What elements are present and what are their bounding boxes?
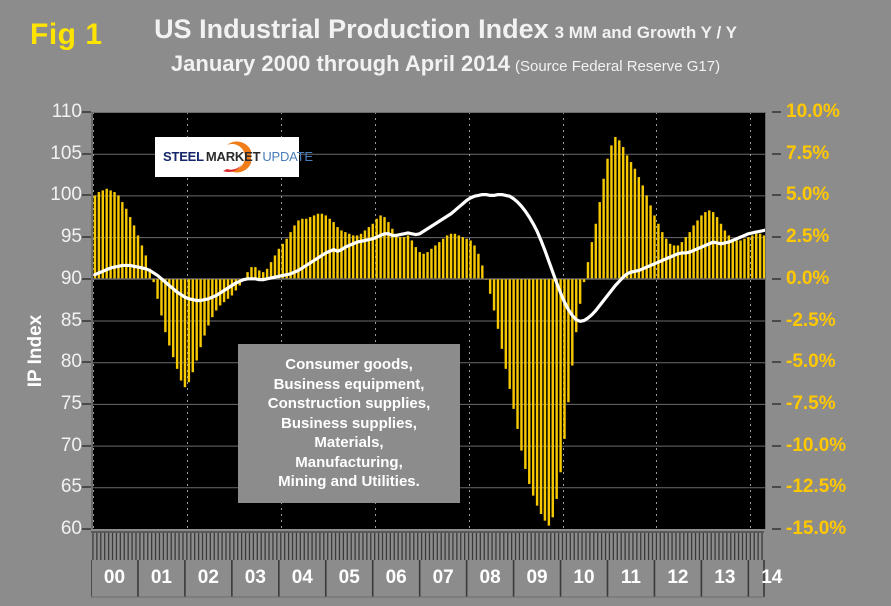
bar <box>536 279 538 506</box>
y-left-tick-mark <box>82 236 91 238</box>
bar <box>540 279 542 514</box>
bar <box>735 240 737 278</box>
logo-word-steel: STEEL <box>163 149 204 164</box>
annotation-line: Construction supplies, <box>268 394 431 414</box>
bar <box>141 245 143 278</box>
chart-title-block: US Industrial Production Index3 MM and G… <box>0 14 891 77</box>
bar <box>317 214 319 279</box>
bar <box>462 237 464 279</box>
bar <box>430 249 432 279</box>
bar <box>571 279 573 366</box>
annotation-box: Consumer goods,Business equipment,Constr… <box>238 344 460 503</box>
bar <box>121 202 123 279</box>
y-right-tick-label: 7.5% <box>786 143 872 165</box>
steel-market-update-logo: STEELMARKETUPDATE <box>155 137 299 177</box>
bar <box>653 215 655 278</box>
y-right-tick-mark <box>772 486 781 488</box>
bar <box>422 254 424 279</box>
bar <box>567 279 569 402</box>
x-axis-tick-label: 02 <box>186 567 230 589</box>
bar <box>618 140 620 278</box>
bar <box>516 279 518 429</box>
bar <box>160 279 162 316</box>
bar <box>763 235 765 278</box>
bar <box>426 252 428 279</box>
bar <box>489 279 491 294</box>
title-line-1: US Industrial Production Index3 MM and G… <box>0 14 891 45</box>
bar <box>669 244 671 279</box>
bar <box>732 239 734 279</box>
bar <box>98 192 100 279</box>
y-left-tick-label: 95 <box>30 226 82 248</box>
y-left-tick-mark <box>82 320 91 322</box>
bar <box>105 189 107 279</box>
y-left-tick-mark <box>82 278 91 280</box>
y-right-tick-label: -5.0% <box>786 351 872 373</box>
x-axis-tick-label: 03 <box>233 567 277 589</box>
y-right-tick-mark <box>772 403 781 405</box>
bar <box>509 279 511 389</box>
y-left-tick-label: 60 <box>30 518 82 540</box>
bar <box>677 245 679 278</box>
y-right-tick-label: 5.0% <box>786 184 872 206</box>
bar <box>481 265 483 278</box>
bar <box>681 242 683 279</box>
bar <box>524 279 526 469</box>
bar <box>673 245 675 278</box>
bar <box>419 252 421 279</box>
bar <box>630 162 632 279</box>
bar <box>712 212 714 279</box>
bar <box>661 232 663 279</box>
bar <box>649 205 651 278</box>
bar <box>282 244 284 279</box>
y-axis-right-ticks: 10.0%7.5%5.0%2.5%0.0%-2.5%-5.0%-7.5%-10.… <box>772 0 872 606</box>
x-axis-tick-label: 14 <box>750 567 794 589</box>
y-right-tick-mark <box>772 528 781 530</box>
bar <box>724 230 726 278</box>
bar <box>395 234 397 279</box>
y-left-tick-mark <box>82 528 91 530</box>
y-right-tick-mark <box>772 278 781 280</box>
bar <box>199 279 201 347</box>
logo-wordmark: STEELMARKETUPDATE <box>163 149 313 164</box>
y-left-tick-label: 80 <box>30 351 82 373</box>
bar <box>364 230 366 278</box>
bar <box>329 219 331 279</box>
y-right-tick-label: 2.5% <box>786 226 872 248</box>
x-axis-tick-label: 09 <box>515 567 559 589</box>
y-left-tick-label: 105 <box>30 143 82 165</box>
bar <box>285 239 287 279</box>
annotation-line: Business equipment, <box>274 375 425 395</box>
y-right-tick-mark <box>772 320 781 322</box>
bar <box>685 237 687 279</box>
y-left-tick-mark <box>82 153 91 155</box>
bar <box>309 217 311 279</box>
annotation-line: Business supplies, <box>281 414 417 434</box>
y-right-tick-mark <box>772 361 781 363</box>
y-right-tick-label: -12.5% <box>786 476 872 498</box>
bar <box>743 239 745 279</box>
y-right-tick-mark <box>772 111 781 113</box>
bar <box>622 147 624 279</box>
bar <box>465 239 467 279</box>
bar <box>610 145 612 278</box>
bar <box>168 279 170 346</box>
bar <box>587 262 589 279</box>
y-left-tick-label: 65 <box>30 476 82 498</box>
bar <box>109 190 111 278</box>
bar <box>387 222 389 279</box>
bar <box>626 155 628 278</box>
bar <box>411 240 413 278</box>
x-axis-tick-label: 07 <box>421 567 465 589</box>
bar <box>493 279 495 311</box>
bar <box>477 254 479 279</box>
y-right-tick-mark <box>772 153 781 155</box>
bar <box>638 177 640 279</box>
bar <box>642 185 644 278</box>
bar <box>657 224 659 279</box>
bar <box>555 279 557 499</box>
bar <box>528 279 530 484</box>
bar <box>305 219 307 279</box>
y-right-tick-label: -2.5% <box>786 310 872 332</box>
x-axis-tick-label: 05 <box>327 567 371 589</box>
bar <box>438 242 440 279</box>
y-left-tick-label: 75 <box>30 393 82 415</box>
bar <box>156 279 158 299</box>
y-right-tick-mark <box>772 445 781 447</box>
bar <box>94 195 96 278</box>
bar <box>274 255 276 278</box>
title-subtitle: 3 MM and Growth Y / Y <box>555 23 737 42</box>
bar <box>164 279 166 332</box>
annotation-line: Materials, <box>314 433 383 453</box>
bar <box>375 219 377 279</box>
y-right-tick-label: 0.0% <box>786 268 872 290</box>
bar <box>552 279 554 518</box>
annotation-line: Consumer goods, <box>285 355 413 375</box>
title-date-range: January 2000 through April 2014 <box>171 51 510 76</box>
bar <box>188 279 190 382</box>
bar <box>325 215 327 278</box>
y-left-tick-mark <box>82 445 91 447</box>
bar <box>575 279 577 332</box>
bar <box>415 247 417 279</box>
bar <box>152 279 154 282</box>
bar <box>532 279 534 496</box>
y-left-tick-label: 110 <box>30 101 82 123</box>
chart-screenshot: Fig 1 US Industrial Production Index3 MM… <box>0 0 891 606</box>
x-axis-tick-label: 00 <box>92 567 136 589</box>
y-left-tick-mark <box>82 194 91 196</box>
bar <box>544 279 546 521</box>
bar <box>548 279 550 526</box>
bar <box>383 217 385 279</box>
bar <box>399 237 401 279</box>
bar <box>258 270 260 278</box>
y-axis-left-ticks: 1101051009590858075706560 <box>20 0 82 606</box>
bar <box>469 240 471 278</box>
y-left-tick-label: 90 <box>30 268 82 290</box>
bar <box>102 190 104 278</box>
bar <box>598 202 600 279</box>
bar <box>505 279 507 369</box>
bar <box>379 215 381 278</box>
y-left-tick-label: 70 <box>30 435 82 457</box>
page-title: US Industrial Production Index <box>154 14 549 44</box>
bar <box>368 227 370 279</box>
y-left-tick-label: 85 <box>30 310 82 332</box>
bar <box>403 237 405 279</box>
bar <box>747 237 749 279</box>
y-right-tick-mark <box>772 236 781 238</box>
bar <box>634 169 636 279</box>
bar <box>583 279 585 282</box>
y-left-tick-label: 100 <box>30 184 82 206</box>
bar <box>591 242 593 279</box>
bar <box>606 159 608 279</box>
x-axis-tick-label: 13 <box>703 567 747 589</box>
x-axis-tick-label: 11 <box>609 567 653 589</box>
bar <box>336 227 338 279</box>
bar <box>720 224 722 279</box>
y-left-tick-mark <box>82 403 91 405</box>
annotation-line: Manufacturing, <box>295 453 403 473</box>
bar <box>458 235 460 278</box>
x-axis-tick-label: 01 <box>139 567 183 589</box>
bar <box>262 272 264 279</box>
x-axis-band: 000102030405060708091011121314 <box>91 531 766 603</box>
bar <box>340 230 342 278</box>
y-right-tick-label: -15.0% <box>786 518 872 540</box>
title-source: (Source Federal Reserve G17) <box>515 58 720 75</box>
bar <box>372 224 374 279</box>
x-axis-tick-label: 06 <box>374 567 418 589</box>
bar <box>125 209 127 279</box>
bar <box>137 235 139 278</box>
logo-word-update: UPDATE <box>262 149 313 164</box>
bar <box>602 179 604 279</box>
bar <box>759 234 761 279</box>
bar <box>614 137 616 279</box>
title-line-2: January 2000 through April 2014(Source F… <box>0 51 891 77</box>
x-axis-tick-label: 08 <box>468 567 512 589</box>
logo-word-market: MARKET <box>206 149 260 164</box>
bar <box>192 279 194 372</box>
bar <box>688 232 690 279</box>
bar <box>497 279 499 329</box>
x-axis-tick-label: 10 <box>562 567 606 589</box>
bar <box>595 224 597 279</box>
bar <box>407 235 409 278</box>
bar <box>473 245 475 278</box>
y-left-tick-mark <box>82 486 91 488</box>
bar <box>321 214 323 279</box>
x-axis-tick-label: 12 <box>656 567 700 589</box>
plot-area: STEELMARKETUPDATE Consumer goods,Busines… <box>91 112 766 529</box>
bar <box>250 267 252 279</box>
bar <box>344 232 346 279</box>
bar <box>579 279 581 304</box>
bar <box>559 279 561 472</box>
bar <box>254 267 256 279</box>
y-left-tick-mark <box>82 361 91 363</box>
annotation-line: Mining and Utilities. <box>278 472 420 492</box>
x-axis-tick-label: 04 <box>280 567 324 589</box>
bar <box>520 279 522 451</box>
bar <box>313 215 315 278</box>
y-right-tick-mark <box>772 194 781 196</box>
logo-inner: STEELMARKETUPDATE <box>157 138 297 176</box>
bar <box>278 249 280 279</box>
bar <box>133 225 135 278</box>
bar <box>195 279 197 361</box>
bar <box>446 235 448 278</box>
y-right-tick-label: 10.0% <box>786 101 872 123</box>
bar <box>454 234 456 279</box>
y-right-tick-label: -7.5% <box>786 393 872 415</box>
bar <box>755 234 757 279</box>
bar <box>716 217 718 279</box>
bar <box>203 279 205 336</box>
bar <box>450 234 452 279</box>
bar <box>512 279 514 409</box>
bar <box>434 245 436 278</box>
bar <box>442 239 444 279</box>
bar <box>207 279 209 326</box>
bar <box>348 234 350 279</box>
bar <box>129 217 131 279</box>
bar <box>751 235 753 278</box>
bar <box>739 240 741 278</box>
y-left-tick-mark <box>82 111 91 113</box>
y-right-tick-label: -10.0% <box>786 435 872 457</box>
bar <box>501 279 503 349</box>
